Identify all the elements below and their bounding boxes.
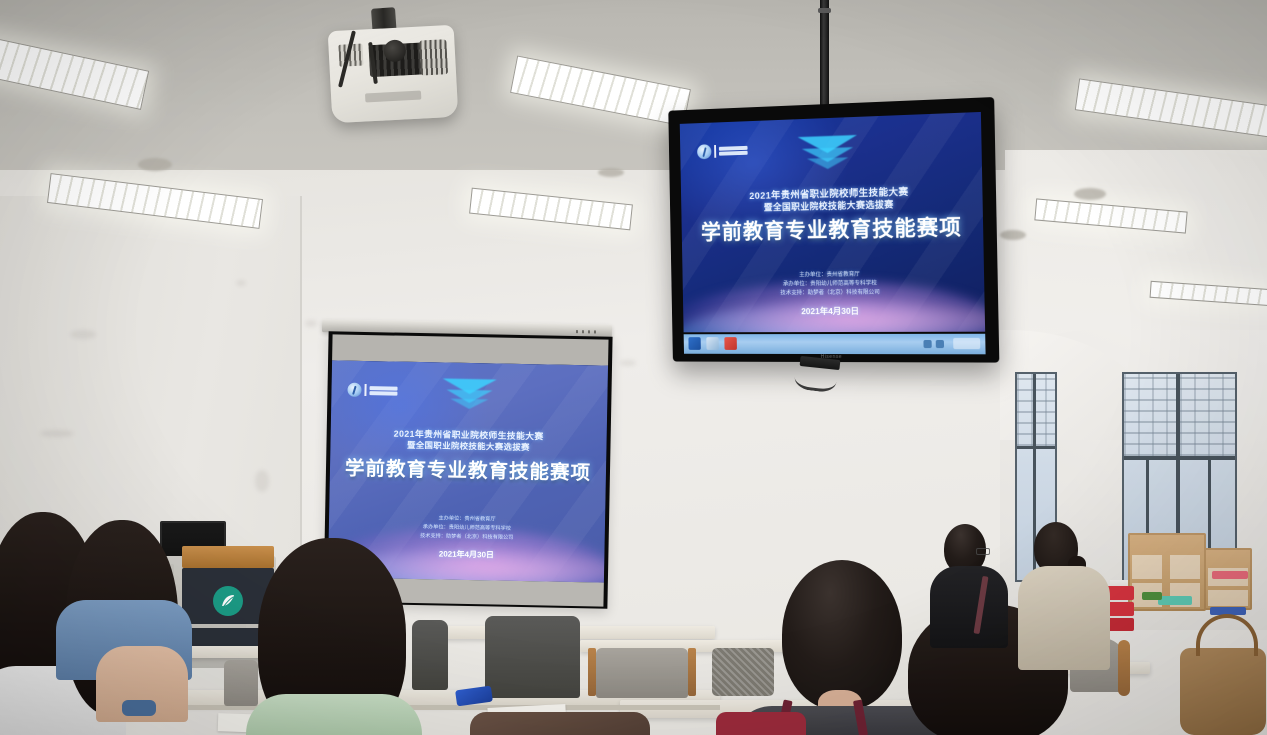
logo-mark-icon (347, 383, 361, 397)
media-icon[interactable] (706, 337, 719, 350)
logo-wordmark (369, 386, 397, 396)
windows-taskbar[interactable] (684, 334, 986, 355)
attendee-back-right-body (930, 566, 1008, 648)
wall-mark (70, 330, 96, 339)
logo-mark-icon (697, 144, 711, 159)
wall-mark (620, 360, 636, 366)
ceiling-vent (1074, 188, 1106, 200)
classroom-chair[interactable] (596, 648, 688, 698)
glasses-icon (976, 548, 990, 555)
ceiling-vent (598, 168, 624, 177)
logo-divider (714, 145, 716, 158)
handbag (1180, 648, 1266, 735)
classroom-chair[interactable] (224, 660, 258, 706)
wall-mark (305, 320, 317, 327)
screen-housing-label (576, 330, 598, 333)
student-center-right-head (782, 560, 902, 710)
storage-shelf-unit-2 (1204, 548, 1252, 610)
projected-image-area: 2021年贵州省职业院校师生技能大赛 暨全国职业院校技能大赛选拔赛 学前教育专业… (328, 360, 608, 582)
foreground-bag (470, 712, 650, 735)
logo-wordmark (719, 146, 748, 156)
projected-slide: 2021年贵州省职业院校师生技能大赛 暨全国职业院校技能大赛选拔赛 学前教育专业… (328, 360, 608, 582)
school-emblem-icon (213, 586, 243, 616)
classroom-chair-mesh[interactable] (712, 648, 774, 696)
chair-wood-frame (1118, 640, 1130, 696)
slide-date: 2021年4月30日 (683, 304, 985, 318)
projector-exhaust-grill (419, 39, 448, 75)
tv-ceiling-pole (820, 0, 829, 112)
attendee-beige-coat-body (1018, 566, 1110, 670)
classroom-photo-scene: 2021年贵州省职业院校师生技能大赛 暨全国职业院校技能大赛选拔赛 学前教育专业… (0, 0, 1267, 735)
wall-mounted-display[interactable]: 2021年贵州省职业院校师生技能大赛 暨全国职业院校技能大赛选拔赛 学前教育专业… (668, 97, 999, 363)
wall-mark (255, 470, 269, 492)
app-icon[interactable] (724, 337, 737, 350)
tv-pole-bolt (818, 8, 831, 13)
slide-main-title: 学前教育专业教育技能赛项 (681, 210, 983, 246)
volume-icon[interactable] (936, 340, 944, 348)
student-front-left-2-sleeve (122, 700, 156, 716)
classroom-chair[interactable] (485, 616, 580, 698)
chevron-decoration (427, 378, 512, 418)
ceiling-vent (138, 158, 172, 171)
ceiling-projector (328, 25, 459, 123)
projector-brand-badge (365, 91, 421, 103)
chevron-decoration (783, 134, 873, 177)
clock-icon[interactable] (953, 338, 980, 349)
slide-main-title: 学前教育专业教育技能赛项 (330, 451, 607, 485)
chair-wood-arm (688, 648, 696, 696)
storage-bin-green (1142, 592, 1162, 600)
network-icon[interactable] (923, 340, 931, 348)
storage-bin-pink (1212, 571, 1248, 579)
lectern-wood-top (182, 546, 274, 568)
presentation-slide: 2021年贵州省职业院校师生技能大赛 暨全国职业院校技能大赛选拔赛 学前教育专业… (680, 112, 985, 332)
wall-mark (40, 430, 74, 437)
student-center-body (246, 694, 422, 735)
organizer-logo (347, 383, 397, 398)
logo-divider (364, 384, 366, 396)
ceiling-vent (1000, 230, 1026, 240)
browser-icon[interactable] (688, 337, 700, 350)
tv-display-area: 2021年贵州省职业院校师生技能大赛 暨全国职业院校技能大赛选拔赛 学前教育专业… (680, 112, 985, 332)
organizer-logo (697, 143, 748, 159)
chair-wood-arm (588, 648, 596, 696)
wall-mark (236, 280, 246, 286)
red-clothing (716, 712, 806, 735)
classroom-chair[interactable] (412, 620, 448, 690)
storage-bin-teal (1158, 596, 1192, 605)
